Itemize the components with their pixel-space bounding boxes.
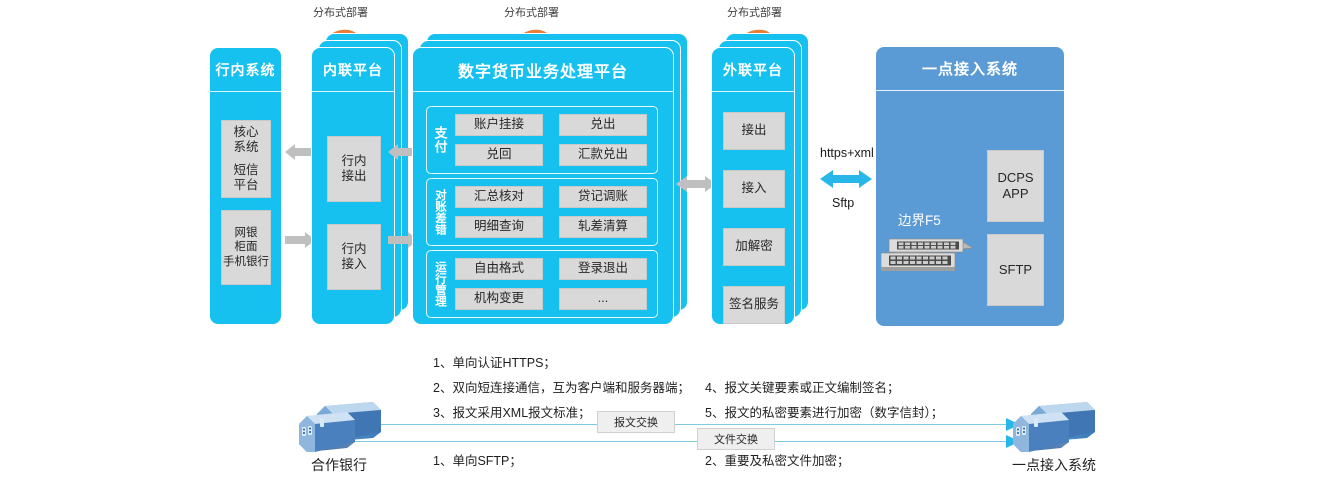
group-grid-payment: 账户挂接 兑出 兑回 汇款兑出: [453, 107, 657, 173]
tile-exchange-back[interactable]: 兑回: [455, 144, 543, 166]
tile-line: 行内: [341, 154, 366, 169]
group-reconciliation: 对账差错 汇总核对 贷记调账 明细查询 轧差清算: [426, 178, 658, 246]
note-message-2: 2、双向短连接通信，互为客户端和服务器端；: [433, 377, 690, 396]
tile-sftp[interactable]: SFTP: [987, 234, 1044, 306]
tile-account-link[interactable]: 账户挂接: [455, 114, 543, 136]
panel-dcep-platform[interactable]: 数字货币业务处理平台 支付 账户挂接 兑出 兑回 汇款兑出 对账差错 汇总核对 …: [412, 47, 674, 325]
tile-line: 网银: [235, 226, 258, 240]
note-message-3: 3、报文采用XML报文标准；: [433, 402, 591, 421]
tile-login-logout[interactable]: 登录退出: [559, 258, 647, 280]
tile-line: 接入: [341, 257, 366, 272]
tile-free-format[interactable]: 自由格式: [455, 258, 543, 280]
tile-line: 接出: [341, 169, 366, 184]
chip-file-exchange: 文件交换: [697, 428, 775, 450]
tile-line: 柜面: [235, 240, 258, 254]
group-grid-operation: 自由格式 登录退出 机构变更 ...: [453, 251, 657, 317]
group-payment: 支付 账户挂接 兑出 兑回 汇款兑出: [426, 106, 658, 174]
tile-line: DCPS: [997, 170, 1033, 186]
tile-netting-settlement[interactable]: 轧差清算: [559, 216, 647, 238]
tile-line: APP: [1002, 186, 1028, 202]
group-label-payment: 支付: [427, 107, 453, 173]
tile-ebank-counter-mobile[interactable]: 网银 柜面 手机银行: [221, 210, 271, 285]
tile-core-sms[interactable]: 核心 系统 短信 平台: [221, 120, 271, 198]
panel-body-single-access: 边界F5: [876, 91, 1064, 326]
panel-title-dcep: 数字货币业务处理平台: [413, 48, 673, 92]
panel-external-platform[interactable]: 外联平台 接出 接入 加解密 签名服务: [711, 47, 795, 325]
panel-title-external: 外联平台: [712, 48, 794, 92]
panel-stack-dcep-platform: 数字货币业务处理平台 支付 账户挂接 兑出 兑回 汇款兑出 对账差错 汇总核对 …: [412, 33, 688, 325]
panel-stack-intranet-platform: 内联平台 行内 接出 行内 接入: [311, 33, 409, 325]
arrow-bidirectional-blue-icon: [820, 168, 872, 190]
note-message-5: 5、报文的私密要素进行加密（数字信封）；: [705, 402, 943, 421]
server-stack-icon-single-access: [1009, 400, 1097, 452]
tile-external-in[interactable]: 接入: [723, 170, 785, 208]
tile-external-out[interactable]: 接出: [723, 112, 785, 150]
tile-signature-service[interactable]: 签名服务: [723, 286, 785, 324]
chip-message-exchange: 报文交换: [597, 411, 675, 433]
tile-detail-query[interactable]: 明细查询: [455, 216, 543, 238]
distributed-label-intranet: 分布式部署: [313, 4, 368, 20]
arrow-bidirectional-icon-dcep-external: [676, 174, 716, 194]
panel-body-external: 接出 接入 加解密 签名服务: [712, 92, 794, 324]
group-operation-management: 运行管理 自由格式 登录退出 机构变更 ...: [426, 250, 658, 318]
note-message-4: 4、报文关键要素或正文编制签名；: [705, 377, 899, 396]
distributed-label-external: 分布式部署: [727, 4, 782, 20]
panel-title-single-access: 一点接入系统: [876, 47, 1064, 91]
tile-remittance-out[interactable]: 汇款兑出: [559, 144, 647, 166]
tile-intranet-in[interactable]: 行内 接入: [327, 224, 381, 290]
panel-stack-external-platform: 外联平台 接出 接入 加解密 签名服务: [711, 33, 809, 325]
note-message-1: 1、单向认证HTTPS；: [433, 352, 556, 371]
caption-partner-bank: 合作银行: [295, 455, 383, 475]
group-label-reconciliation: 对账差错: [427, 179, 453, 245]
link-label-https-xml: https+xml: [820, 146, 874, 160]
tile-org-change[interactable]: 机构变更: [455, 288, 543, 310]
tile-encrypt-decrypt[interactable]: 加解密: [723, 228, 785, 266]
panel-body-bank-internal: 核心 系统 短信 平台 网银 柜面 手机银行: [210, 92, 281, 324]
tile-credit-adjust[interactable]: 贷记调账: [559, 186, 647, 208]
distributed-label-dcep: 分布式部署: [504, 4, 559, 20]
tile-dcps-app[interactable]: DCPS APP: [987, 150, 1044, 222]
file-exchange-line: [352, 441, 1012, 442]
message-exchange-line: [352, 424, 1012, 425]
note-file-right: 2、重要及私密文件加密；: [705, 450, 849, 469]
panel-title-intranet: 内联平台: [312, 48, 394, 92]
tile-more[interactable]: ...: [559, 288, 647, 310]
note-file-left: 1、单向SFTP；: [433, 450, 522, 469]
tile-exchange-out[interactable]: 兑出: [559, 114, 647, 136]
panel-body-dcep: 支付 账户挂接 兑出 兑回 汇款兑出 对账差错 汇总核对 贷记调账 明细查询 轧…: [413, 92, 673, 324]
panel-single-access-system[interactable]: 一点接入系统 边界F5: [875, 46, 1065, 327]
tile-line: 行内: [341, 242, 366, 257]
server-stack-icon-partner-bank: [295, 400, 383, 452]
link-label-sftp: Sftp: [832, 196, 854, 210]
tile-line: 手机银行: [223, 255, 269, 269]
tile-intranet-out[interactable]: 行内 接出: [327, 136, 381, 202]
f5-label: 边界F5: [898, 209, 941, 229]
tile-line: 短信: [233, 163, 258, 178]
panel-title-bank-internal: 行内系统: [210, 48, 281, 92]
group-label-operation: 运行管理: [427, 251, 453, 317]
group-grid-reconciliation: 汇总核对 贷记调账 明细查询 轧差清算: [453, 179, 657, 245]
panel-intranet-platform[interactable]: 内联平台 行内 接出 行内 接入: [311, 47, 395, 325]
tile-line: 系统: [233, 140, 258, 155]
network-switch-icon: [881, 235, 975, 281]
panel-bank-internal-system[interactable]: 行内系统 核心 系统 短信 平台 网银 柜面 手机银行: [209, 47, 282, 325]
tile-line: 核心: [233, 125, 258, 140]
caption-single-access-system: 一点接入系统: [999, 455, 1109, 475]
panel-body-intranet: 行内 接出 行内 接入: [312, 92, 394, 324]
tile-summary-check[interactable]: 汇总核对: [455, 186, 543, 208]
tile-line: 平台: [233, 178, 258, 193]
